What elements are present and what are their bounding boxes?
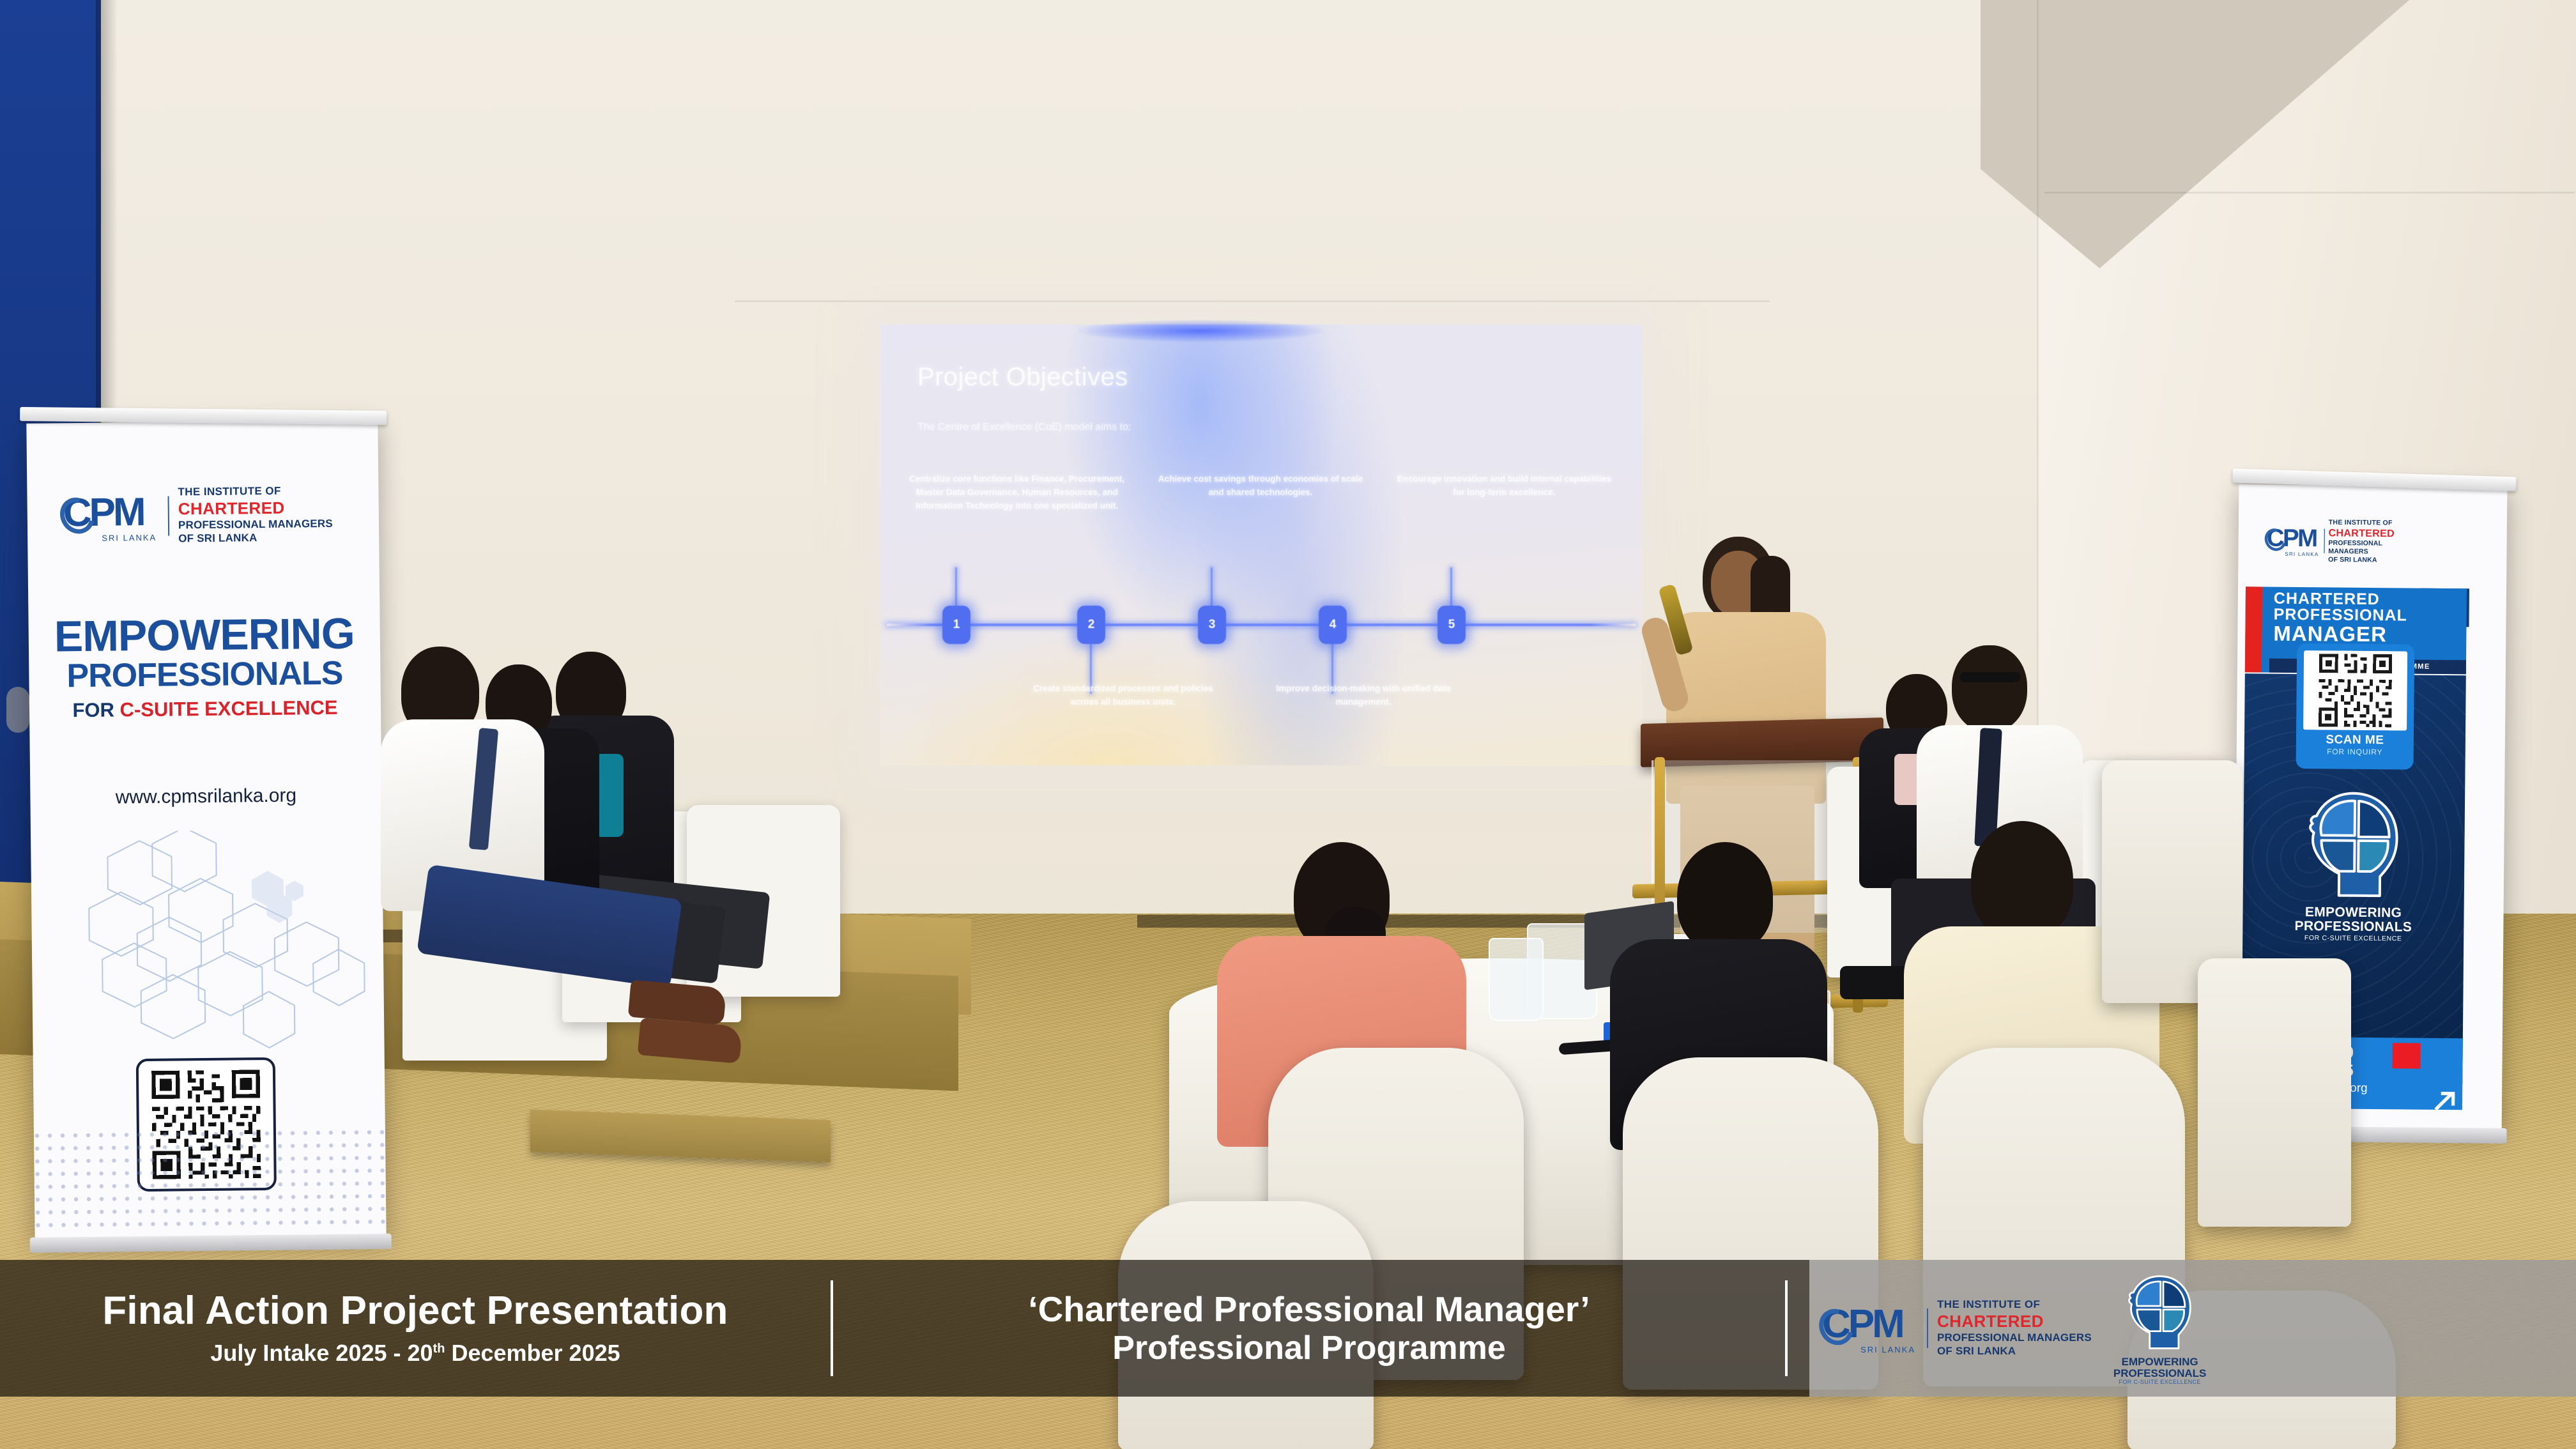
slide-item: Create standardized processes and polici… (1027, 682, 1219, 709)
event-date-post: December 2025 (445, 1340, 620, 1366)
cpm-sublabel: SRI LANKA (1860, 1345, 1915, 1354)
water-jug (1489, 938, 1544, 1021)
cpm-wordmark: THE INSTITUTE OF CHARTERED PROFESSIONAL … (2328, 518, 2416, 564)
arrow-up-right-icon (2432, 1087, 2458, 1114)
timeline-node-2: 2 (1077, 606, 1105, 644)
cpm-logo: CPM SRI LANKA THE INSTITUTE OF CHARTERED… (63, 484, 333, 547)
logo-divider (1927, 1308, 1928, 1348)
cpm-wordmark: THE INSTITUTE OF CHARTERED PROFESSIONAL … (178, 484, 333, 546)
chair-empty (2198, 958, 2351, 1227)
slide-item: Encourage innovation and build internal … (1393, 473, 1615, 513)
logo-line-2: CHARTERED (1937, 1312, 2092, 1332)
banner-headline: EMPOWERING PROFESSIONALS FOR C-SUITE EXC… (28, 611, 381, 723)
red-accent-bar (2245, 586, 2262, 672)
banner-url: www.cpmsrilanka.org (30, 784, 381, 809)
tagline-line-3: FOR C-SUITE EXCELLENCE (2242, 934, 2464, 943)
tagline-text: EMPOWERING PROFESSIONALS FOR C-SUITE EXC… (2113, 1356, 2206, 1385)
event-date-ordinal: th (433, 1342, 445, 1356)
headline-empowering: EMPOWERING (28, 611, 380, 659)
headline-csuite: FOR C-SUITE EXCELLENCE (29, 696, 381, 723)
logo-line-4: OF SRI LANKA (2328, 556, 2415, 565)
logo-line-1: THE INSTITUTE OF (178, 484, 332, 499)
slide-item-text: Create standardized processes and polici… (1027, 682, 1219, 709)
event-subtitle: July Intake 2025 - 20th December 2025 (0, 1340, 831, 1367)
slide-item: Achieve cost savings through economies o… (1149, 473, 1371, 513)
cpm-logo: CPM SRI LANKA THE INSTITUTE OF CHARTERED… (2266, 518, 2416, 565)
head-puzzle-icon (2299, 786, 2409, 902)
tagline-line-1: EMPOWERING (2242, 905, 2464, 921)
logo-line-4: OF SRI LANKA (178, 531, 333, 546)
slide-item-text: Achieve cost savings through economies o… (1149, 473, 1371, 500)
logo-divider (2324, 529, 2325, 553)
timeline-stem (1450, 567, 1452, 606)
cpm-logomark: CPM SRI LANKA (63, 493, 159, 541)
banner-tagline: EMPOWERING PROFESSIONALS FOR C-SUITE EXC… (2242, 905, 2464, 943)
event-photo-canvas: Project Objectives The Centre of Excelle… (0, 0, 2576, 1449)
timeline-stem (1211, 567, 1213, 606)
tagline-line-2: PROFESSIONALS (2242, 919, 2464, 935)
banner-tagline-block: EMPOWERING PROFESSIONALS FOR C-SUITE EXC… (2113, 1271, 2206, 1385)
slide-item-text: Encourage innovation and build internal … (1393, 473, 1615, 500)
title-manager: MANAGER (2273, 623, 2407, 645)
qr-code-icon (2303, 650, 2407, 730)
timeline-node-5: 5 (1437, 606, 1466, 644)
logo-line-4: OF SRI LANKA (1937, 1345, 2092, 1358)
headline-for: FOR (72, 698, 119, 721)
banner-logo-block: CPM SRI LANKA THE INSTITUTE OF CHARTERED… (1788, 1271, 2576, 1385)
audience-head (1971, 821, 2073, 939)
slide-item: Improve decision-making with unified dat… (1268, 682, 1459, 709)
scan-me-label: SCAN ME (2303, 733, 2407, 747)
logo-line-3: PROFESSIONAL MANAGERS (1937, 1331, 2092, 1345)
wall-panel-line (2044, 192, 2575, 194)
qr-code[interactable] (2303, 650, 2407, 730)
logo-line-1: THE INSTITUTE OF (2329, 518, 2416, 527)
projected-slide: Project Objectives The Centre of Excelle… (880, 325, 1642, 765)
slide-timeline-axis: 1 2 3 4 5 (887, 624, 1636, 626)
programme-title-block: ‘Chartered Professional Manager’ Profess… (833, 1289, 1785, 1367)
timeline-stem (955, 567, 957, 606)
scan-me-sublabel: FOR INQUIRY (2303, 747, 2407, 756)
timeline-node-1: 1 (942, 606, 970, 644)
slide-title: Project Objectives (917, 363, 1128, 392)
logo-line-1: THE INSTITUTE OF (1937, 1298, 2092, 1312)
slide-item-text: Improve decision-making with unified dat… (1268, 682, 1459, 709)
cpm-sublabel: SRI LANKA (2285, 551, 2319, 557)
logo-line-2: CHARTERED (178, 498, 333, 519)
slide-top-items: Centralize core functions like Finance, … (906, 473, 1615, 513)
slide-item: Centralize core functions like Finance, … (906, 473, 1128, 513)
logo-divider (168, 496, 170, 536)
projector-glow (880, 318, 1642, 344)
tagline-line-3: FOR C-SUITE EXCELLENCE (2113, 1379, 2206, 1385)
logo-line-3: PROFESSIONAL MANAGERS (178, 517, 333, 532)
timeline-node-4: 4 (1319, 606, 1347, 644)
programme-title: CHARTERED PROFESSIONAL MANAGER (2273, 591, 2407, 645)
tagline-line-1: EMPOWERING (2113, 1356, 2206, 1368)
programme-subtitle: Professional Programme (833, 1330, 1785, 1367)
timeline-node-3: 3 (1198, 606, 1226, 644)
halftone-dots-pattern (34, 1129, 387, 1235)
audience-head (1677, 842, 1773, 952)
head-puzzle-icon (2122, 1271, 2198, 1354)
scan-me-card[interactable]: SCAN ME FOR INQUIRY (2296, 643, 2415, 770)
cpm-sublabel: SRI LANKA (102, 533, 157, 543)
logo-line-2: CHARTERED (2328, 526, 2415, 540)
logo-line-3: PROFESSIONAL MANAGERS (2328, 539, 2416, 556)
cpm-logomark: CPM SRI LANKA (1822, 1305, 1918, 1352)
door-handle (6, 687, 29, 733)
event-title-block: Final Action Project Presentation July I… (0, 1290, 831, 1367)
rollup-banner-left: CPM SRI LANKA THE INSTITUTE OF CHARTERED… (26, 420, 386, 1241)
event-title: Final Action Project Presentation (0, 1290, 831, 1332)
tagline-line-2: PROFESSIONALS (2113, 1368, 2206, 1379)
cpm-wordmark: THE INSTITUTE OF CHARTERED PROFESSIONAL … (1937, 1298, 2092, 1358)
red-accent-square (2392, 1043, 2420, 1068)
headline-professionals: PROFESSIONALS (29, 655, 381, 694)
event-date-pre: July Intake 2025 - 20 (210, 1340, 433, 1366)
event-caption-banner: Final Action Project Presentation July I… (0, 1260, 2576, 1397)
hexagon-pattern-icon (31, 829, 385, 1101)
wall-panel-line (735, 300, 1770, 302)
judge-head (1952, 645, 2027, 732)
slide-item-text: Centralize core functions like Finance, … (906, 473, 1128, 513)
cpm-logomark: CPM SRI LANKA (2266, 526, 2320, 556)
cpm-logo: CPM SRI LANKA THE INSTITUTE OF CHARTERED… (1822, 1298, 2092, 1358)
slide-subtitle: The Centre of Excellence (CoE) model aim… (917, 422, 1131, 433)
programme-title: ‘Chartered Professional Manager’ (833, 1289, 1785, 1330)
headline-csuite-red: C-SUITE EXCELLENCE (119, 696, 337, 721)
eyeglasses-icon (1960, 672, 2020, 682)
